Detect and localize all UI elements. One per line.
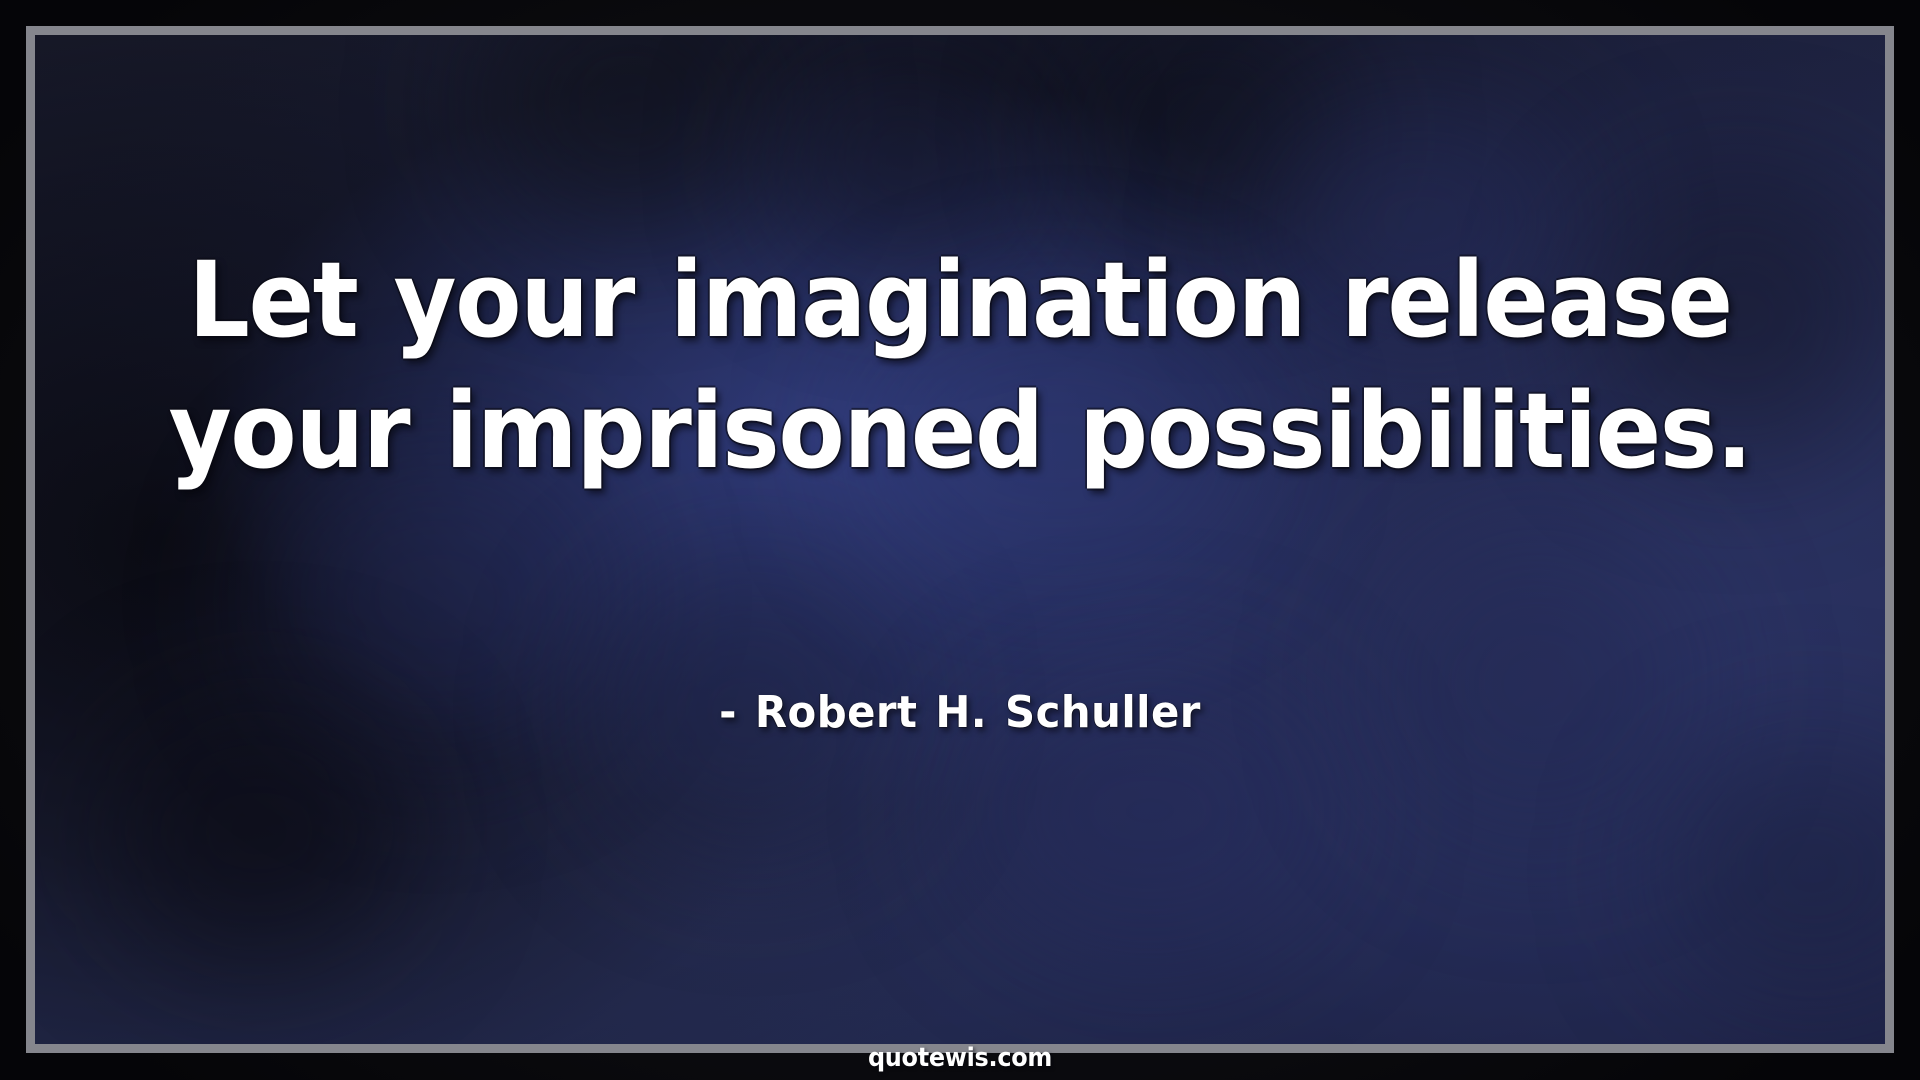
quote-image-card: Let your imagination release your impris… xyxy=(0,0,1920,1080)
quote-author-attribution: - Robert H. Schuller xyxy=(140,687,1780,740)
card-text-layer: Let your imagination release your impris… xyxy=(35,35,1885,1044)
quote-text: Let your imagination release your impris… xyxy=(157,235,1762,497)
card-border-frame: Let your imagination release your impris… xyxy=(26,26,1894,1053)
site-watermark: quotewis.com xyxy=(109,1043,1811,1073)
